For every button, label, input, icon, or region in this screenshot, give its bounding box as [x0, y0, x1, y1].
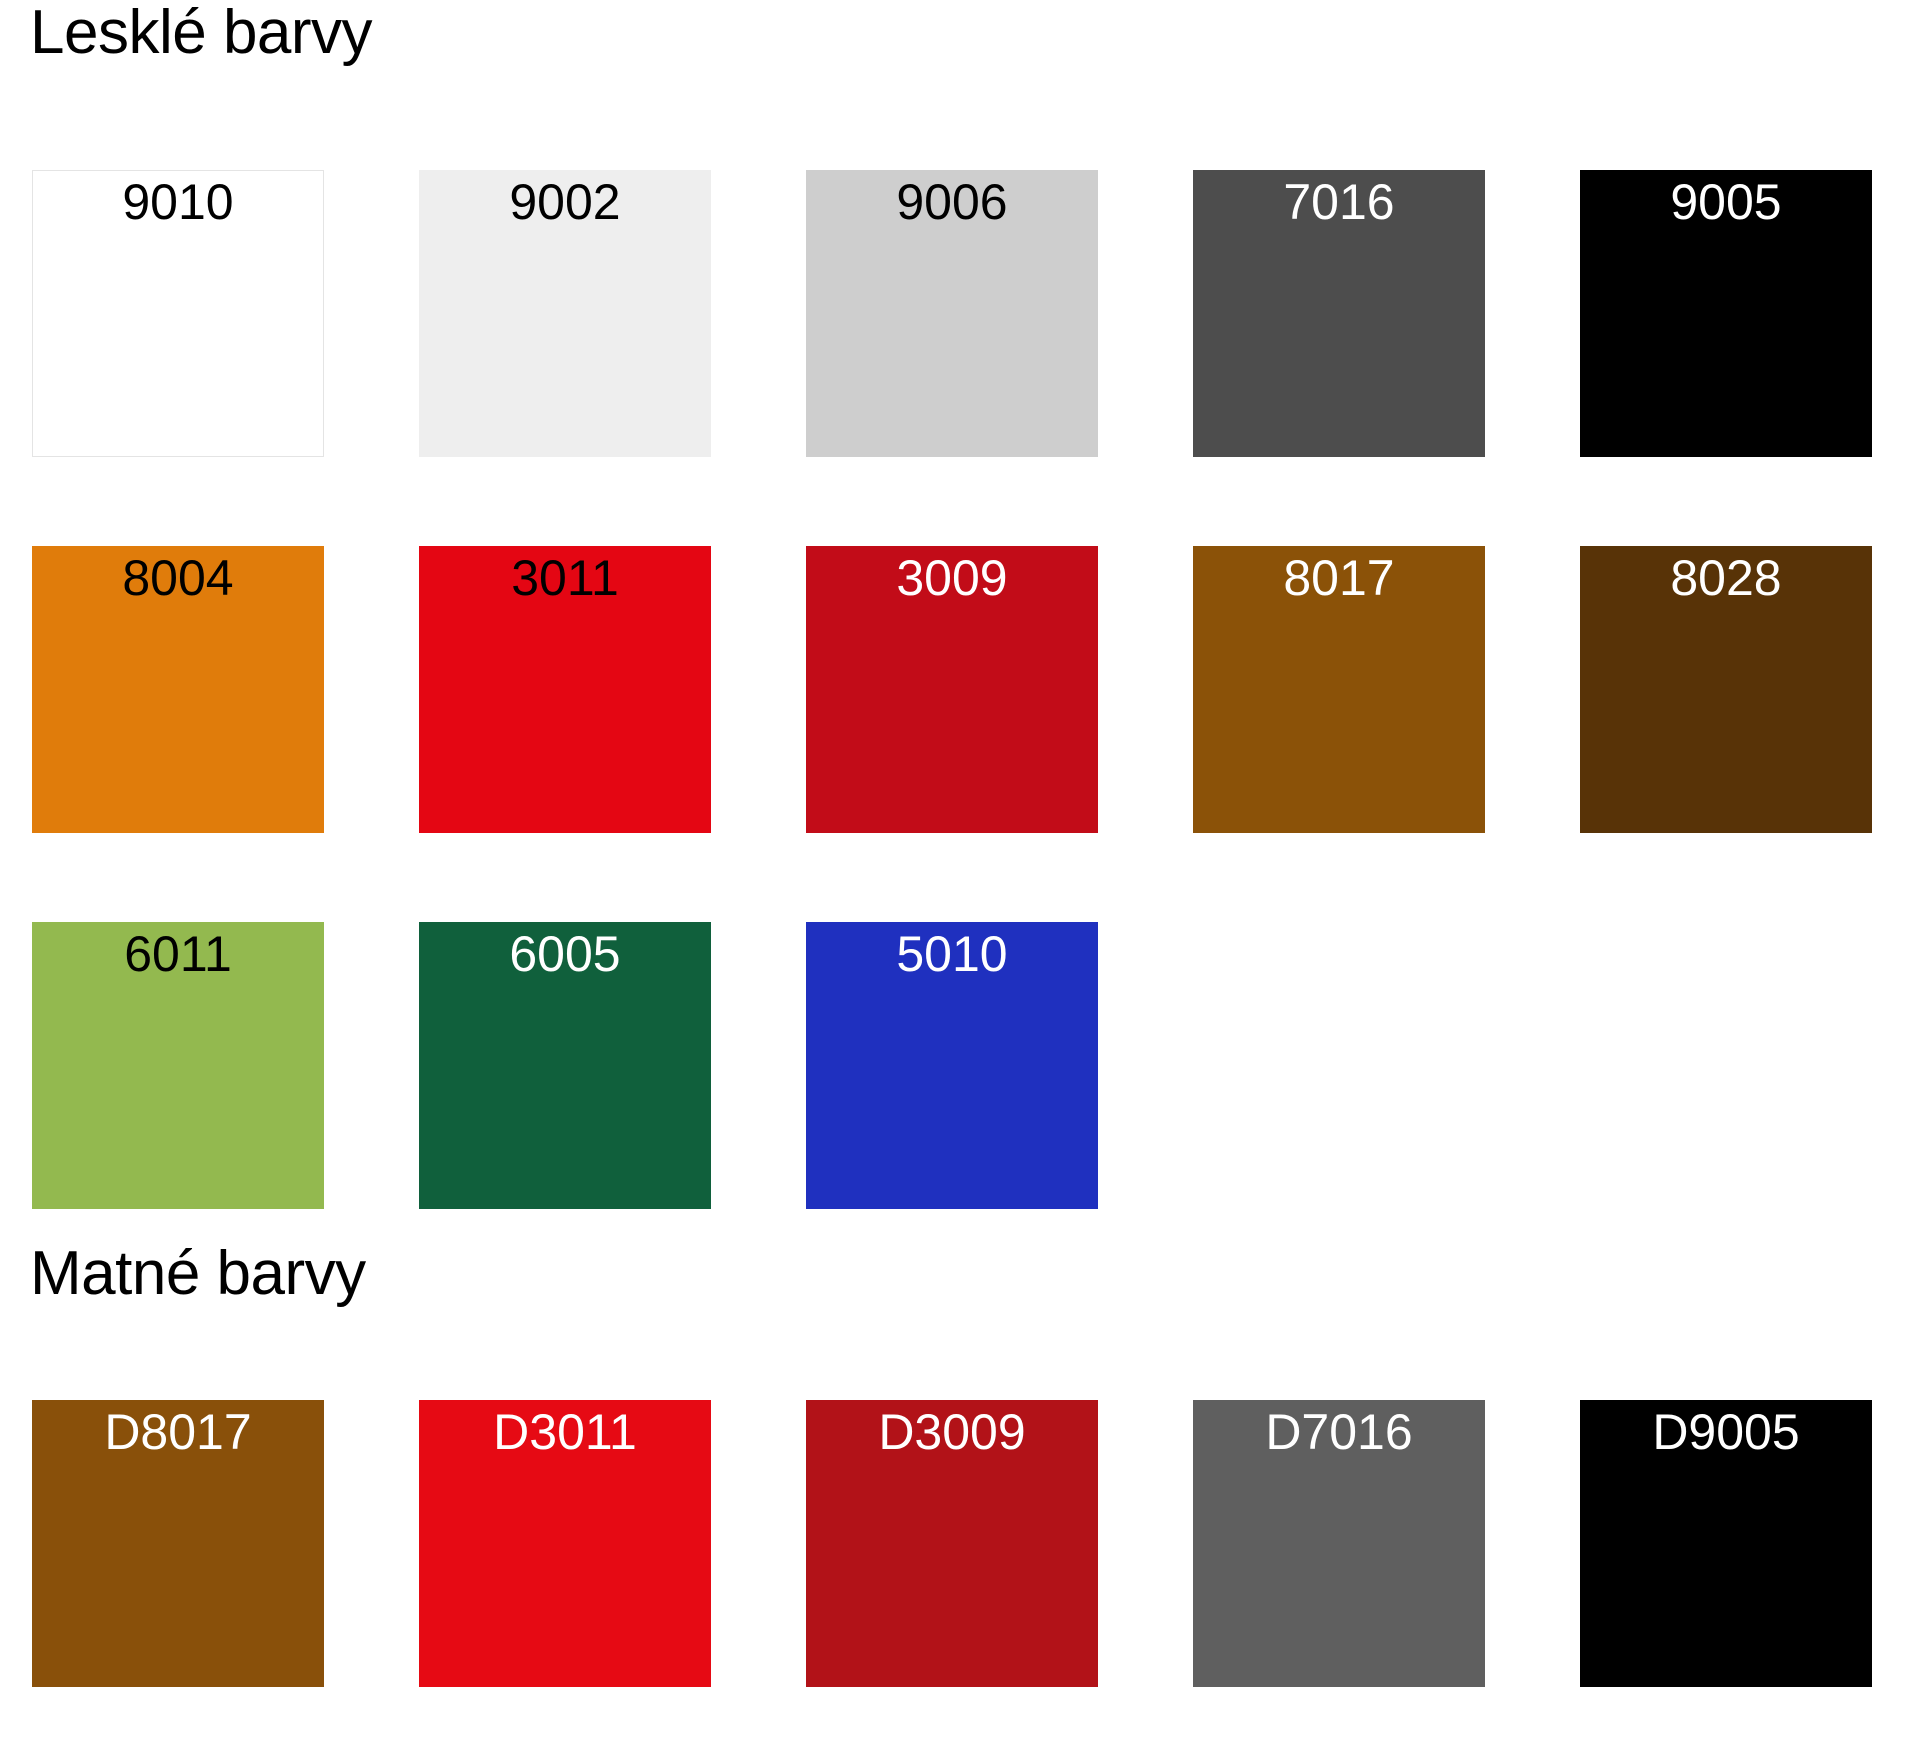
swatch-label: 9006 [896, 176, 1007, 229]
color-swatch-9002[interactable]: 9002 [419, 170, 711, 457]
color-swatch-d9005[interactable]: D9005 [1580, 1400, 1872, 1687]
swatch-label: D3009 [878, 1406, 1025, 1459]
swatch-label: D8017 [104, 1406, 251, 1459]
page-title-matt: Matné barvy [30, 1243, 366, 1305]
swatch-label: D9005 [1652, 1406, 1799, 1459]
swatch-label: 5010 [896, 928, 1007, 981]
swatch-label: 6005 [509, 928, 620, 981]
color-swatch-7016[interactable]: 7016 [1193, 170, 1485, 457]
color-swatch-9010[interactable]: 9010 [32, 170, 324, 457]
color-swatch-6005[interactable]: 6005 [419, 922, 711, 1209]
swatch-row: D8017 D3011 D3009 D7016 D9005 [32, 1400, 1907, 1687]
page-title-gloss: Lesklé barvy [30, 2, 372, 64]
swatch-row: 6011 6005 5010 [32, 922, 1907, 1209]
swatch-row: 9010 9002 9006 7016 9005 [32, 170, 1907, 457]
color-swatch-5010[interactable]: 5010 [806, 922, 1098, 1209]
swatch-label: 7016 [1283, 176, 1394, 229]
color-swatch-8017[interactable]: 8017 [1193, 546, 1485, 833]
color-swatch-8004[interactable]: 8004 [32, 546, 324, 833]
swatch-grid-matt: D8017 D3011 D3009 D7016 D9005 [32, 1400, 1907, 1687]
swatch-label: D7016 [1265, 1406, 1412, 1459]
swatch-label: 8017 [1283, 552, 1394, 605]
color-swatch-page: Lesklé barvy 9010 9002 9006 7016 9005 80… [0, 0, 1920, 1759]
swatch-label: 9005 [1670, 176, 1781, 229]
swatch-label: 6011 [124, 928, 232, 981]
swatch-label: 8028 [1670, 552, 1781, 605]
color-swatch-9006[interactable]: 9006 [806, 170, 1098, 457]
swatch-label: 3009 [896, 552, 1007, 605]
color-swatch-d3009[interactable]: D3009 [806, 1400, 1098, 1687]
color-swatch-d3011[interactable]: D3011 [419, 1400, 711, 1687]
swatch-label: 9002 [509, 176, 620, 229]
color-swatch-3011[interactable]: 3011 [419, 546, 711, 833]
swatch-row: 8004 3011 3009 8017 8028 [32, 546, 1907, 833]
swatch-label: 9010 [122, 176, 233, 229]
color-swatch-3009[interactable]: 3009 [806, 546, 1098, 833]
swatch-label: 8004 [122, 552, 233, 605]
color-swatch-8028[interactable]: 8028 [1580, 546, 1872, 833]
color-swatch-d7016[interactable]: D7016 [1193, 1400, 1485, 1687]
color-swatch-6011[interactable]: 6011 [32, 922, 324, 1209]
color-swatch-d8017[interactable]: D8017 [32, 1400, 324, 1687]
color-swatch-9005[interactable]: 9005 [1580, 170, 1872, 457]
swatch-label: 3011 [511, 552, 619, 605]
swatch-label: D3011 [493, 1406, 637, 1459]
swatch-grid-gloss: 9010 9002 9006 7016 9005 8004 3011 [32, 170, 1907, 1209]
